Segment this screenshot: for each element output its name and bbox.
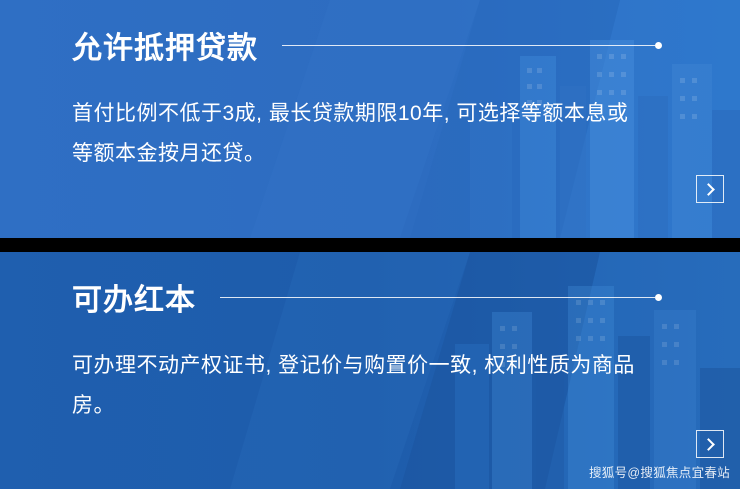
chevron-right-icon bbox=[702, 438, 715, 451]
panel-allow-mortgage: 允许抵押贷款 首付比例不低于3成, 最长贷款期限10年, 可选择等额本息或等额本… bbox=[0, 0, 740, 238]
heading-dot-top bbox=[655, 42, 662, 49]
heading-rule-top bbox=[282, 45, 655, 46]
panel-red-certificate: 可办红本 可办理不动产权证书, 登记价与购置价一致, 权利性质为商品房。 bbox=[0, 252, 740, 489]
next-button-bottom[interactable] bbox=[696, 430, 724, 458]
heading-row-top: 允许抵押贷款 bbox=[72, 22, 662, 68]
chevron-right-icon bbox=[702, 183, 715, 196]
panel-title-top: 允许抵押贷款 bbox=[72, 23, 258, 67]
panel-body-top: 首付比例不低于3成, 最长贷款期限10年, 可选择等额本息或等额本金按月还贷。 bbox=[72, 94, 647, 174]
panel-content-top: 允许抵押贷款 首付比例不低于3成, 最长贷款期限10年, 可选择等额本息或等额本… bbox=[0, 22, 740, 174]
section-divider bbox=[0, 238, 740, 252]
heading-rule-bottom bbox=[220, 297, 655, 298]
panel-content-bottom: 可办红本 可办理不动产权证书, 登记价与购置价一致, 权利性质为商品房。 bbox=[0, 274, 740, 426]
panel-body-bottom: 可办理不动产权证书, 登记价与购置价一致, 权利性质为商品房。 bbox=[72, 346, 647, 426]
heading-row-bottom: 可办红本 bbox=[72, 274, 662, 320]
heading-dot-bottom bbox=[655, 294, 662, 301]
next-button-top[interactable] bbox=[696, 175, 724, 203]
panel-title-bottom: 可办红本 bbox=[72, 275, 196, 319]
watermark-text: 搜狐号@搜狐焦点宜春站 bbox=[589, 462, 730, 481]
slide-page: 允许抵押贷款 首付比例不低于3成, 最长贷款期限10年, 可选择等额本息或等额本… bbox=[0, 0, 740, 489]
